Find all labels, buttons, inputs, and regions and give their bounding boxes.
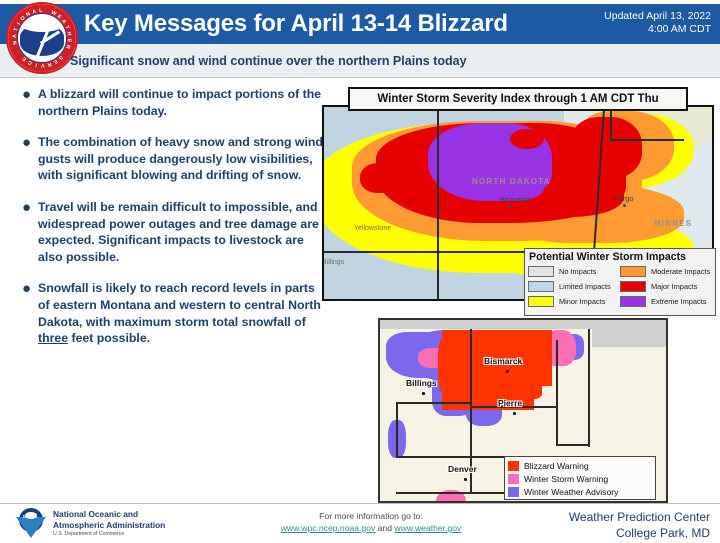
wssi-legend-item: Moderate Impacts bbox=[620, 264, 712, 279]
legend-label: Minor Impacts bbox=[559, 297, 605, 306]
key-message-text: Snowfall is likely to reach record level… bbox=[38, 280, 328, 346]
bullet-icon: ● bbox=[16, 86, 38, 119]
legend-swatch bbox=[620, 296, 646, 307]
bullet-icon: ● bbox=[16, 280, 38, 346]
legend-label: Blizzard Warning bbox=[524, 461, 589, 471]
map-city-denver: Denver bbox=[448, 464, 477, 474]
warnings-legend: Blizzard WarningWinter Storm WarningWint… bbox=[504, 456, 656, 500]
nws-logo-icon: NATIONALWEATHERSERVICE bbox=[6, 2, 78, 74]
weather-gov-link[interactable]: www.weather.gov bbox=[394, 523, 461, 533]
legend-swatch bbox=[620, 266, 646, 277]
subtitle: Significant snow and wind continue over … bbox=[70, 54, 467, 68]
legend-swatch bbox=[528, 281, 554, 292]
bullet-icon: ● bbox=[16, 134, 38, 184]
key-message-text: A blizzard will continue to impact porti… bbox=[38, 86, 328, 119]
wssi-legend-item: No Impacts bbox=[528, 264, 620, 279]
wssi-legend-item: Minor Impacts bbox=[528, 294, 620, 309]
map-label-minnesota: MINNES bbox=[654, 219, 692, 228]
warning-legend-item: Winter Storm Warning bbox=[508, 472, 655, 485]
wssi-legend: Potential Winter Storm Impacts No Impact… bbox=[524, 248, 716, 316]
key-message-item: ●Travel will be remain difficult to impo… bbox=[16, 199, 328, 265]
map-label-north-dakota: NORTH DAKOTA bbox=[472, 177, 551, 186]
map-label-yellowstone: Yellowstone bbox=[354, 225, 391, 232]
page-title: Key Messages for April 13-14 Blizzard bbox=[84, 9, 508, 39]
footer-divider bbox=[0, 503, 720, 504]
legend-label: Winter Storm Warning bbox=[524, 474, 608, 484]
issuing-office: Weather Prediction Center College Park, … bbox=[569, 509, 710, 541]
legend-swatch bbox=[620, 281, 646, 292]
warning-legend-item: Blizzard Warning bbox=[508, 459, 655, 472]
noaa-agency-name: National Oceanic and Atmospheric Adminis… bbox=[53, 509, 165, 530]
key-message-text: Travel will be remain difficult to impos… bbox=[38, 199, 328, 265]
map-city-bismarck-2: Bismarck bbox=[484, 356, 522, 366]
wssi-legend-item: Limited Impacts bbox=[528, 279, 620, 294]
footer-info-label: For more information go to: bbox=[256, 510, 486, 522]
legend-label: Moderate Impacts bbox=[651, 267, 710, 276]
footer-links: For more information go to: www.wpc.ncep… bbox=[256, 510, 486, 534]
noaa-mark-text: NOAA bbox=[23, 514, 38, 519]
legend-label: Major Impacts bbox=[651, 282, 697, 291]
noaa-logo-icon: NOAA bbox=[16, 508, 46, 538]
legend-swatch bbox=[528, 296, 554, 307]
key-message-item: ●A blizzard will continue to impact port… bbox=[16, 86, 328, 119]
wssi-legend-title: Potential Winter Storm Impacts bbox=[525, 249, 715, 264]
legend-label: No Impacts bbox=[559, 267, 596, 276]
legend-swatch bbox=[508, 487, 519, 497]
link-conjunction: and bbox=[375, 523, 394, 533]
wssi-legend-item: Extreme Impacts bbox=[620, 294, 712, 309]
map-city-fargo: Fargo bbox=[614, 194, 634, 207]
updated-date: Updated April 13, 2022 bbox=[604, 10, 711, 23]
map-city-billings: Billings bbox=[406, 378, 437, 388]
emphasis-text: three bbox=[38, 331, 68, 345]
legend-swatch bbox=[528, 266, 554, 277]
legend-label: Winter Weather Advisory bbox=[524, 487, 618, 497]
noaa-department: U.S. Department of Commerce bbox=[53, 531, 124, 537]
updated-time: 4:00 AM CDT bbox=[604, 23, 711, 36]
legend-swatch bbox=[508, 474, 519, 484]
map-city-bismarck: Bismarck bbox=[500, 195, 531, 208]
key-message-item: ●Snowfall is likely to reach record leve… bbox=[16, 280, 328, 346]
key-messages-list: ●A blizzard will continue to impact port… bbox=[16, 86, 328, 362]
key-message-item: ●The combination of heavy snow and stron… bbox=[16, 134, 328, 184]
wssi-legend-item: Major Impacts bbox=[620, 279, 712, 294]
nws-key-messages-graphic: NATIONALWEATHERSERVICE Key Messages for … bbox=[0, 0, 720, 543]
map-label-billings: Billings bbox=[322, 259, 344, 266]
map-city-pierre: Pierre bbox=[498, 398, 522, 408]
wssi-map-title: Winter Storm Severity Index through 1 AM… bbox=[348, 87, 688, 111]
legend-label: Extreme Impacts bbox=[651, 297, 706, 306]
wpc-link[interactable]: www.wpc.ncep.noaa.gov bbox=[281, 523, 376, 533]
legend-swatch bbox=[508, 461, 519, 471]
key-message-text: The combination of heavy snow and strong… bbox=[38, 134, 328, 184]
bullet-icon: ● bbox=[16, 199, 38, 265]
updated-timestamp: Updated April 13, 2022 4:00 AM CDT bbox=[604, 10, 711, 36]
warning-legend-item: Winter Weather Advisory bbox=[508, 485, 655, 498]
legend-label: Limited Impacts bbox=[559, 282, 611, 291]
